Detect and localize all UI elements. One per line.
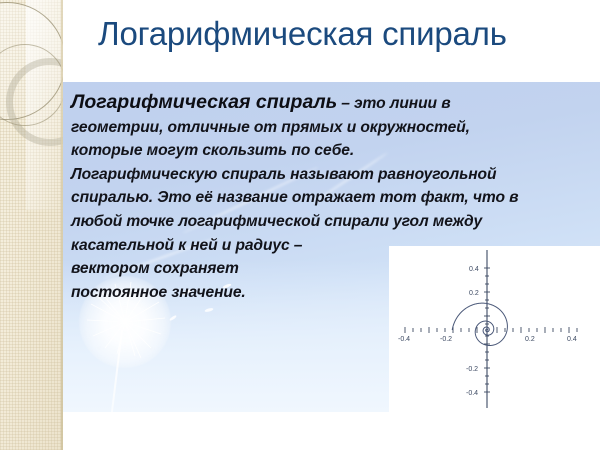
- text-line: которые могут скользить по себе.: [71, 139, 491, 163]
- page-title: Логарифмическая спираль: [98, 14, 507, 54]
- text-line: Логарифмическую спираль называют равноуг…: [71, 163, 491, 187]
- left-decorative-sidebar: [0, 0, 63, 450]
- x-tick-label: -0.4: [398, 336, 410, 343]
- text-line: геометрии, отличные от прямых и окружнос…: [71, 116, 491, 140]
- x-tick-label: 0.4: [567, 336, 577, 343]
- slide-content-block: – это линии в геометрии, отличные от пря…: [63, 82, 600, 412]
- presentation-slide: Логарифмическая спираль: [0, 0, 600, 450]
- slide-header: Логарифмическая спираль: [63, 0, 600, 82]
- decorative-arc-thin-icon: [0, 44, 63, 126]
- slide-footer-area: [63, 412, 600, 450]
- y-tick-label: -0.2: [466, 366, 478, 373]
- x-tick-label: -0.2: [440, 336, 452, 343]
- y-tick-label: 0.2: [469, 290, 479, 297]
- lead-term-text: Логарифмическая спираль: [71, 91, 337, 113]
- y-tick-label: -0.4: [466, 390, 478, 397]
- spiral-plot: -0.4 -0.2 0.2 0.4 0.4 0.2 -0.2 -0.4: [389, 246, 600, 412]
- logarithmic-spiral-figure: -0.4 -0.2 0.2 0.4 0.4 0.2 -0.2 -0.4: [389, 246, 600, 412]
- text-line: любой точке логарифмической спирали угол…: [71, 210, 491, 234]
- x-tick-label: 0.2: [525, 336, 535, 343]
- y-tick-label: 0.4: [469, 266, 479, 273]
- lead-line: Логарифмическая спираль: [71, 91, 501, 114]
- text-line: спиралью. Это её название отражает тот ф…: [71, 186, 491, 210]
